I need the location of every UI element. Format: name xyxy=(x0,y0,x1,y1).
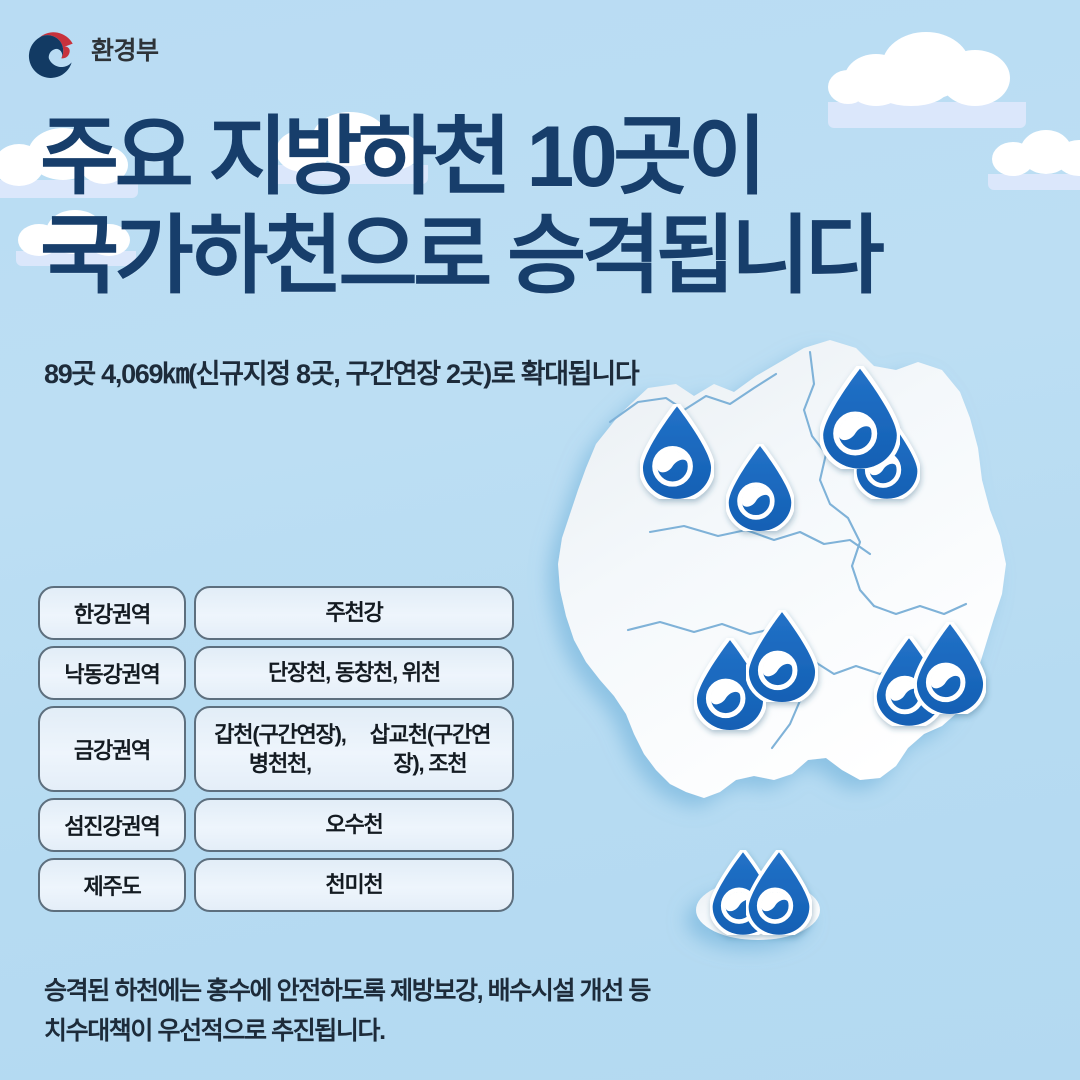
korea-map-svg xyxy=(508,318,1080,998)
rivers-cell: 오수천 xyxy=(194,798,514,852)
cloud-puff xyxy=(0,144,44,186)
cloud-puff xyxy=(844,54,908,106)
cloud-puff xyxy=(940,50,1010,106)
region-cell: 낙동강권역 xyxy=(38,646,186,700)
rivers-line: 삽교천(구간연장), 조천 xyxy=(356,720,504,778)
korea-government-taegeuk-icon xyxy=(28,26,80,78)
rivers-cell: 단장천, 동창천, 위천 xyxy=(194,646,514,700)
region-cell: 금강권역 xyxy=(38,706,186,792)
table-row: 섬진강권역 오수천 xyxy=(38,798,514,852)
table-row: 금강권역 갑천(구간연장), 병천천, 삽교천(구간연장), 조천 xyxy=(38,706,514,792)
rivers-line: 주천강 xyxy=(325,598,382,627)
rivers-cell: 갑천(구간연장), 병천천, 삽교천(구간연장), 조천 xyxy=(194,706,514,792)
rivers-cell: 주천강 xyxy=(194,586,514,640)
page-title: 주요 지방하천 10곳이 국가하천으로 승격됩니다 xyxy=(40,108,1040,306)
footnote-line-1: 승격된 하천에는 홍수에 안전하도록 제방보강, 배수시설 개선 등 xyxy=(44,972,864,1012)
brand-name: 환경부 xyxy=(91,39,159,66)
infographic-poster: 환경부 주요 지방하천 10곳이 국가하천으로 승격됩니다 89곳 4,069㎞… xyxy=(0,0,1080,1080)
region-cell: 섬진강권역 xyxy=(38,798,186,852)
region-cell: 제주도 xyxy=(38,858,186,912)
korea-map xyxy=(508,318,1080,998)
brand-header: 환경부 xyxy=(28,26,159,78)
table-row: 제주도 천미천 xyxy=(38,858,514,912)
table-row: 한강권역 주천강 xyxy=(38,586,514,640)
cloud-puff xyxy=(828,70,868,104)
headline-line-1: 주요 지방하천 10곳이 xyxy=(40,108,1040,207)
cloud-puff xyxy=(882,32,970,100)
rivers-line: 오수천 xyxy=(325,810,382,839)
region-cell: 한강권역 xyxy=(38,586,186,640)
rivers-line: 갑천(구간연장), 병천천, xyxy=(204,720,356,778)
rivers-line: 천미천 xyxy=(325,870,382,899)
rivers-line: 단장천, 동창천, 위천 xyxy=(268,658,440,687)
cloud-puff xyxy=(1056,140,1080,176)
cloud-puff xyxy=(874,72,948,106)
marker-jeju[interactable] xyxy=(713,852,810,935)
footnote-line-2: 치수대책이 우선적으로 추진됩니다. xyxy=(44,1012,864,1052)
footnote: 승격된 하천에는 홍수에 안전하도록 제방보강, 배수시설 개선 등 치수대책이… xyxy=(44,972,864,1051)
map-landmass xyxy=(558,340,1006,798)
headline-line-2: 국가하천으로 승격됩니다 xyxy=(40,207,1040,306)
rivers-cell: 천미천 xyxy=(194,858,514,912)
table-row: 낙동강권역 단장천, 동창천, 위천 xyxy=(38,646,514,700)
subtitle: 89곳 4,069㎞(신규지정 8곳, 구간연장 2곳)로 확대됩니다 xyxy=(44,352,638,391)
river-region-table: 한강권역 주천강 낙동강권역 단장천, 동창천, 위천 금강권역 갑천(구간연장… xyxy=(38,586,514,912)
